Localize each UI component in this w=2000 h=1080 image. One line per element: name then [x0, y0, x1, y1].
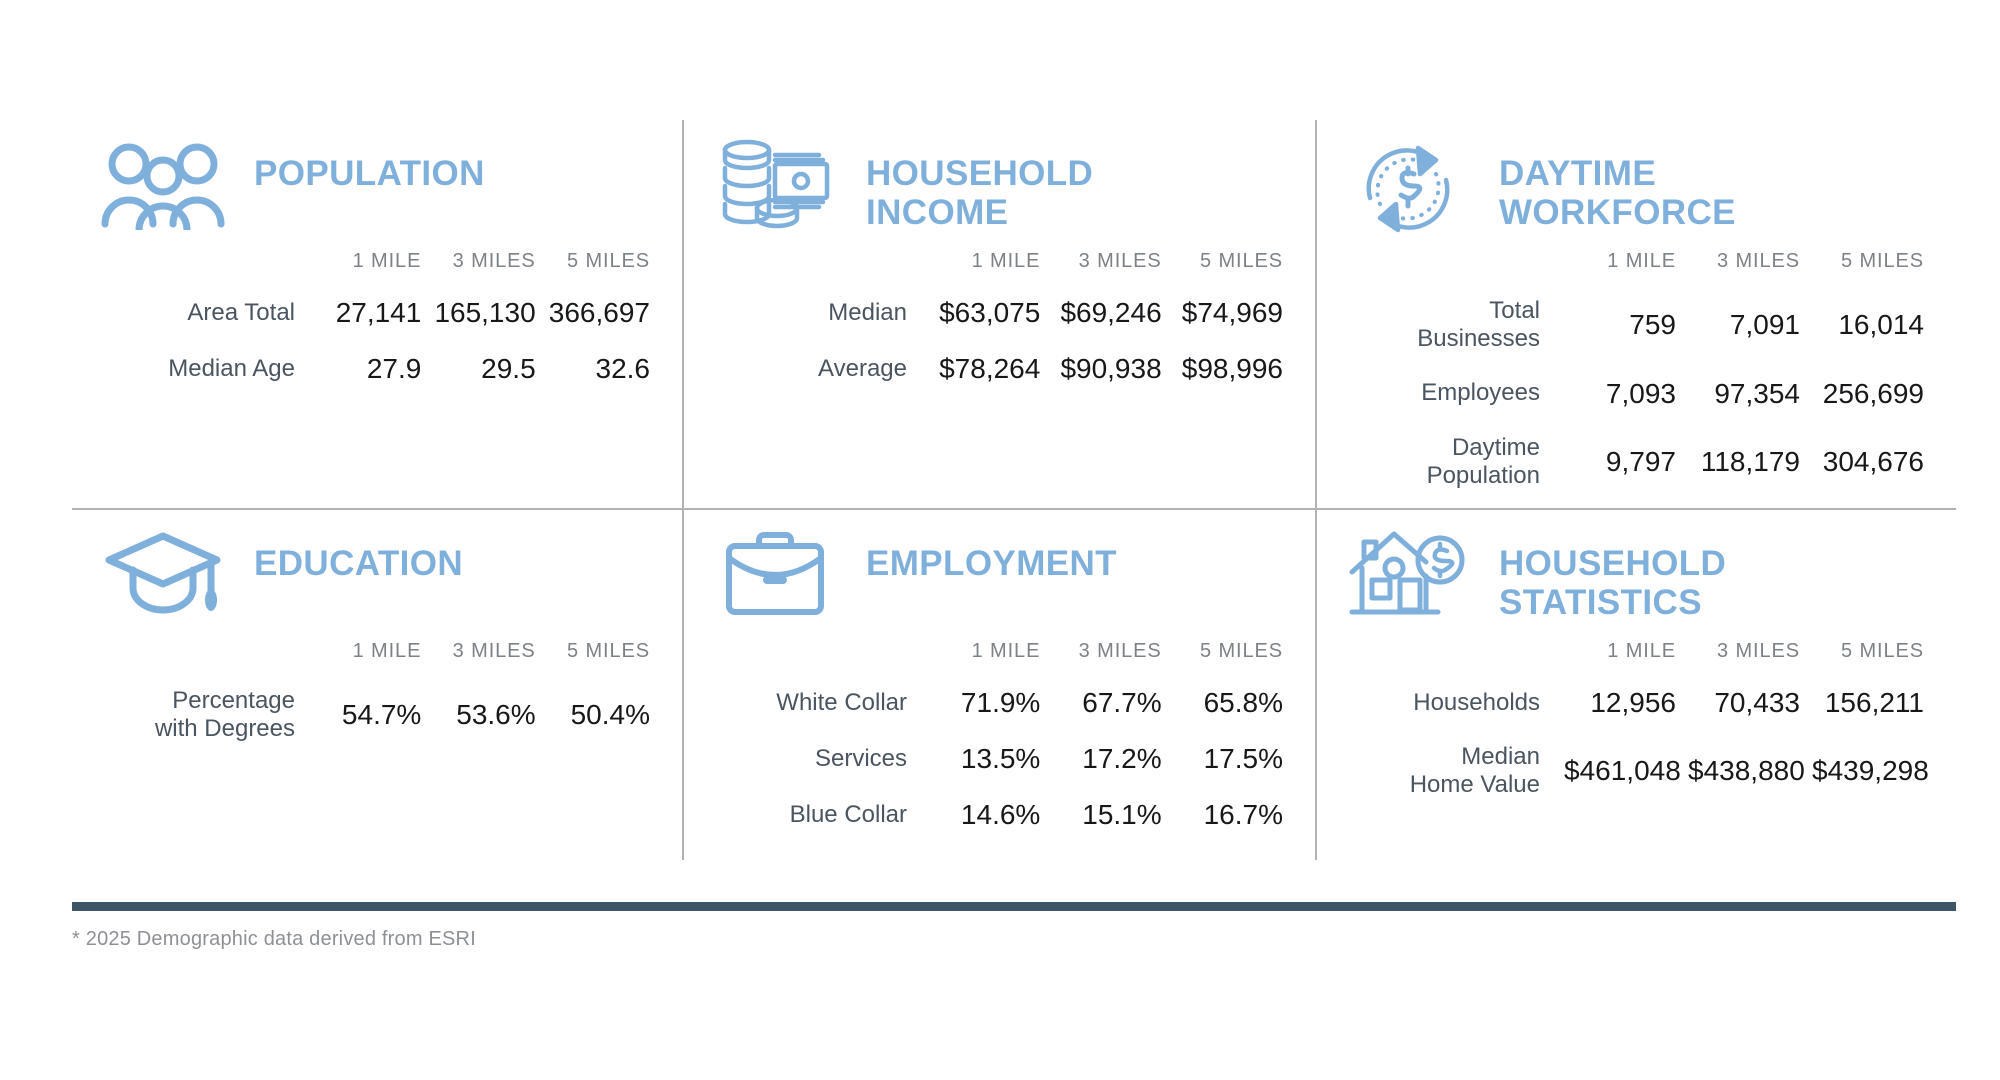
- cell-value: $98,996: [1168, 341, 1289, 397]
- table-row: Area Total 27,141 165,130 366,697: [98, 285, 656, 341]
- table-header-row: 1 MILE 3 MILES 5 MILES: [1343, 640, 1930, 675]
- column-header-5miles: 5 MILES: [1806, 250, 1930, 285]
- cell-value: $90,938: [1046, 341, 1167, 397]
- panel-title: DAYTIME WORKFORCE: [1499, 138, 1736, 232]
- panel-title: EMPLOYMENT: [866, 528, 1117, 583]
- cell-value: 97,354: [1682, 366, 1806, 422]
- row-label: White Collar: [710, 675, 925, 731]
- cell-value: 17.5%: [1168, 731, 1289, 787]
- row-label: Percentage with Degrees: [98, 675, 313, 756]
- cell-value: 118,179: [1682, 422, 1806, 503]
- cell-value: 9,797: [1558, 422, 1682, 503]
- panel-header: EMPLOYMENT: [710, 528, 1289, 636]
- row-label-header: [1343, 250, 1558, 285]
- column-header-1mile: 1 MILE: [313, 250, 427, 285]
- table-row: Average $78,264 $90,938 $98,996: [710, 341, 1289, 397]
- table-header-row: 1 MILE 3 MILES 5 MILES: [98, 640, 656, 675]
- panel-title: POPULATION: [254, 138, 485, 193]
- column-header-1mile: 1 MILE: [1558, 640, 1682, 675]
- panel-header: HOUSEHOLD INCOME: [710, 138, 1289, 246]
- stats-table-education: 1 MILE 3 MILES 5 MILES Percentage with D…: [98, 640, 656, 756]
- cell-value: 15.1%: [1046, 787, 1167, 843]
- cell-value: 71.9%: [925, 675, 1046, 731]
- panel-header: POPULATION: [98, 138, 656, 246]
- column-header-1mile: 1 MILE: [313, 640, 427, 675]
- table-header-row: 1 MILE 3 MILES 5 MILES: [710, 250, 1289, 285]
- column-header-5miles: 5 MILES: [542, 640, 656, 675]
- row-label: Services: [710, 731, 925, 787]
- panel-title: EDUCATION: [254, 528, 463, 583]
- cell-value: 165,130: [427, 285, 541, 341]
- column-header-3miles: 3 MILES: [1046, 250, 1167, 285]
- column-header-5miles: 5 MILES: [1806, 640, 1930, 675]
- briefcase-icon: [710, 528, 840, 628]
- row-label: Area Total: [98, 285, 313, 341]
- cell-value: 54.7%: [313, 675, 427, 756]
- table-row: Total Businesses 759 7,091 16,014: [1343, 285, 1930, 366]
- row-label: Median: [710, 285, 925, 341]
- row-label: Median Home Value: [1343, 731, 1558, 812]
- cell-value: 16,014: [1806, 285, 1930, 366]
- panel-header: DAYTIME WORKFORCE: [1343, 138, 1930, 246]
- cell-value: $69,246: [1046, 285, 1167, 341]
- cell-value: 53.6%: [427, 675, 541, 756]
- column-header-3miles: 3 MILES: [1682, 250, 1806, 285]
- row-label: Blue Collar: [710, 787, 925, 843]
- footer-divider-bar: [72, 902, 1956, 911]
- cell-value: 759: [1558, 285, 1682, 366]
- panel-household-income: HOUSEHOLD INCOME 1 MILE 3 MILES 5 MILES: [682, 120, 1315, 508]
- table-row: Median Age 27.9 29.5 32.6: [98, 341, 656, 397]
- panel-title: HOUSEHOLD INCOME: [866, 138, 1093, 232]
- table-row: Percentage with Degrees 54.7% 53.6% 50.4…: [98, 675, 656, 756]
- cell-value: 65.8%: [1168, 675, 1289, 731]
- cell-value: 156,211: [1806, 675, 1930, 731]
- table-header-row: 1 MILE 3 MILES 5 MILES: [1343, 250, 1930, 285]
- house-dollar-icon: [1343, 528, 1473, 628]
- cell-value: 50.4%: [542, 675, 656, 756]
- demographics-infographic: POPULATION 1 MILE 3 MILES 5 MILES: [0, 0, 2000, 1080]
- column-header-5miles: 5 MILES: [542, 250, 656, 285]
- column-header-5miles: 5 MILES: [1168, 640, 1289, 675]
- cell-value: $438,880: [1682, 731, 1806, 812]
- table-row: Services 13.5% 17.2% 17.5%: [710, 731, 1289, 787]
- stats-table-population: 1 MILE 3 MILES 5 MILES Area Total 27,141…: [98, 250, 656, 397]
- cell-value: 256,699: [1806, 366, 1930, 422]
- column-header-1mile: 1 MILE: [925, 250, 1046, 285]
- row-label-header: [98, 640, 313, 675]
- panel-grid: POPULATION 1 MILE 3 MILES 5 MILES: [72, 120, 1956, 860]
- cell-value: $63,075: [925, 285, 1046, 341]
- table-row: Employees 7,093 97,354 256,699: [1343, 366, 1930, 422]
- column-header-3miles: 3 MILES: [1682, 640, 1806, 675]
- column-header-1mile: 1 MILE: [1558, 250, 1682, 285]
- column-header-3miles: 3 MILES: [427, 250, 541, 285]
- stats-table-household-statistics: 1 MILE 3 MILES 5 MILES Households 12,956…: [1343, 640, 1930, 812]
- dollar-cycle-icon: [1343, 138, 1473, 238]
- panel-household-statistics: HOUSEHOLD STATISTICS 1 MILE 3 MILES 5 MI…: [1315, 508, 1956, 860]
- panel-daytime-workforce: DAYTIME WORKFORCE 1 MILE 3 MILES 5 MILES: [1315, 120, 1956, 508]
- cell-value: $74,969: [1168, 285, 1289, 341]
- panel-title: HOUSEHOLD STATISTICS: [1499, 528, 1726, 622]
- stats-table-employment: 1 MILE 3 MILES 5 MILES White Collar 71.9…: [710, 640, 1289, 843]
- cell-value: 27.9: [313, 341, 427, 397]
- cell-value: 27,141: [313, 285, 427, 341]
- graduation-cap-icon: [98, 528, 228, 628]
- table-row: White Collar 71.9% 67.7% 65.8%: [710, 675, 1289, 731]
- cell-value: 67.7%: [1046, 675, 1167, 731]
- money-coins-icon: [710, 138, 840, 238]
- table-row: Daytime Population 9,797 118,179 304,676: [1343, 422, 1930, 503]
- table-row: Households 12,956 70,433 156,211: [1343, 675, 1930, 731]
- row-label: Total Businesses: [1343, 285, 1558, 366]
- cell-value: 7,091: [1682, 285, 1806, 366]
- row-label: Employees: [1343, 366, 1558, 422]
- footer-source-note: * 2025 Demographic data derived from ESR…: [72, 928, 476, 951]
- column-header-3miles: 3 MILES: [1046, 640, 1167, 675]
- cell-value: 17.2%: [1046, 731, 1167, 787]
- row-label-header: [710, 250, 925, 285]
- table-header-row: 1 MILE 3 MILES 5 MILES: [710, 640, 1289, 675]
- table-row: Blue Collar 14.6% 15.1% 16.7%: [710, 787, 1289, 843]
- column-header-3miles: 3 MILES: [427, 640, 541, 675]
- panel-header: HOUSEHOLD STATISTICS: [1343, 528, 1930, 636]
- panel-header: EDUCATION: [98, 528, 656, 636]
- row-label-header: [710, 640, 925, 675]
- cell-value: 366,697: [542, 285, 656, 341]
- cell-value: $439,298: [1806, 731, 1930, 812]
- cell-value: $461,048: [1558, 731, 1682, 812]
- cell-value: 12,956: [1558, 675, 1682, 731]
- panel-employment: EMPLOYMENT 1 MILE 3 MILES 5 MILES: [682, 508, 1315, 860]
- cell-value: $78,264: [925, 341, 1046, 397]
- row-label: Households: [1343, 675, 1558, 731]
- cell-value: 29.5: [427, 341, 541, 397]
- panel-population: POPULATION 1 MILE 3 MILES 5 MILES: [72, 120, 682, 508]
- row-label: Average: [710, 341, 925, 397]
- cell-value: 7,093: [1558, 366, 1682, 422]
- cell-value: 16.7%: [1168, 787, 1289, 843]
- table-row: Median Home Value $461,048 $438,880 $439…: [1343, 731, 1930, 812]
- row-label: Median Age: [98, 341, 313, 397]
- cell-value: 13.5%: [925, 731, 1046, 787]
- cell-value: 14.6%: [925, 787, 1046, 843]
- people-group-icon: [98, 138, 228, 238]
- row-label: Daytime Population: [1343, 422, 1558, 503]
- stats-table-daytime-workforce: 1 MILE 3 MILES 5 MILES Total Businesses …: [1343, 250, 1930, 502]
- cell-value: 32.6: [542, 341, 656, 397]
- cell-value: 304,676: [1806, 422, 1930, 503]
- column-header-5miles: 5 MILES: [1168, 250, 1289, 285]
- column-header-1mile: 1 MILE: [925, 640, 1046, 675]
- row-label-header: [1343, 640, 1558, 675]
- row-label-header: [98, 250, 313, 285]
- table-header-row: 1 MILE 3 MILES 5 MILES: [98, 250, 656, 285]
- panel-education: EDUCATION 1 MILE 3 MILES 5 MILES: [72, 508, 682, 860]
- stats-table-household-income: 1 MILE 3 MILES 5 MILES Median $63,075 $6…: [710, 250, 1289, 397]
- table-row: Median $63,075 $69,246 $74,969: [710, 285, 1289, 341]
- cell-value: 70,433: [1682, 675, 1806, 731]
